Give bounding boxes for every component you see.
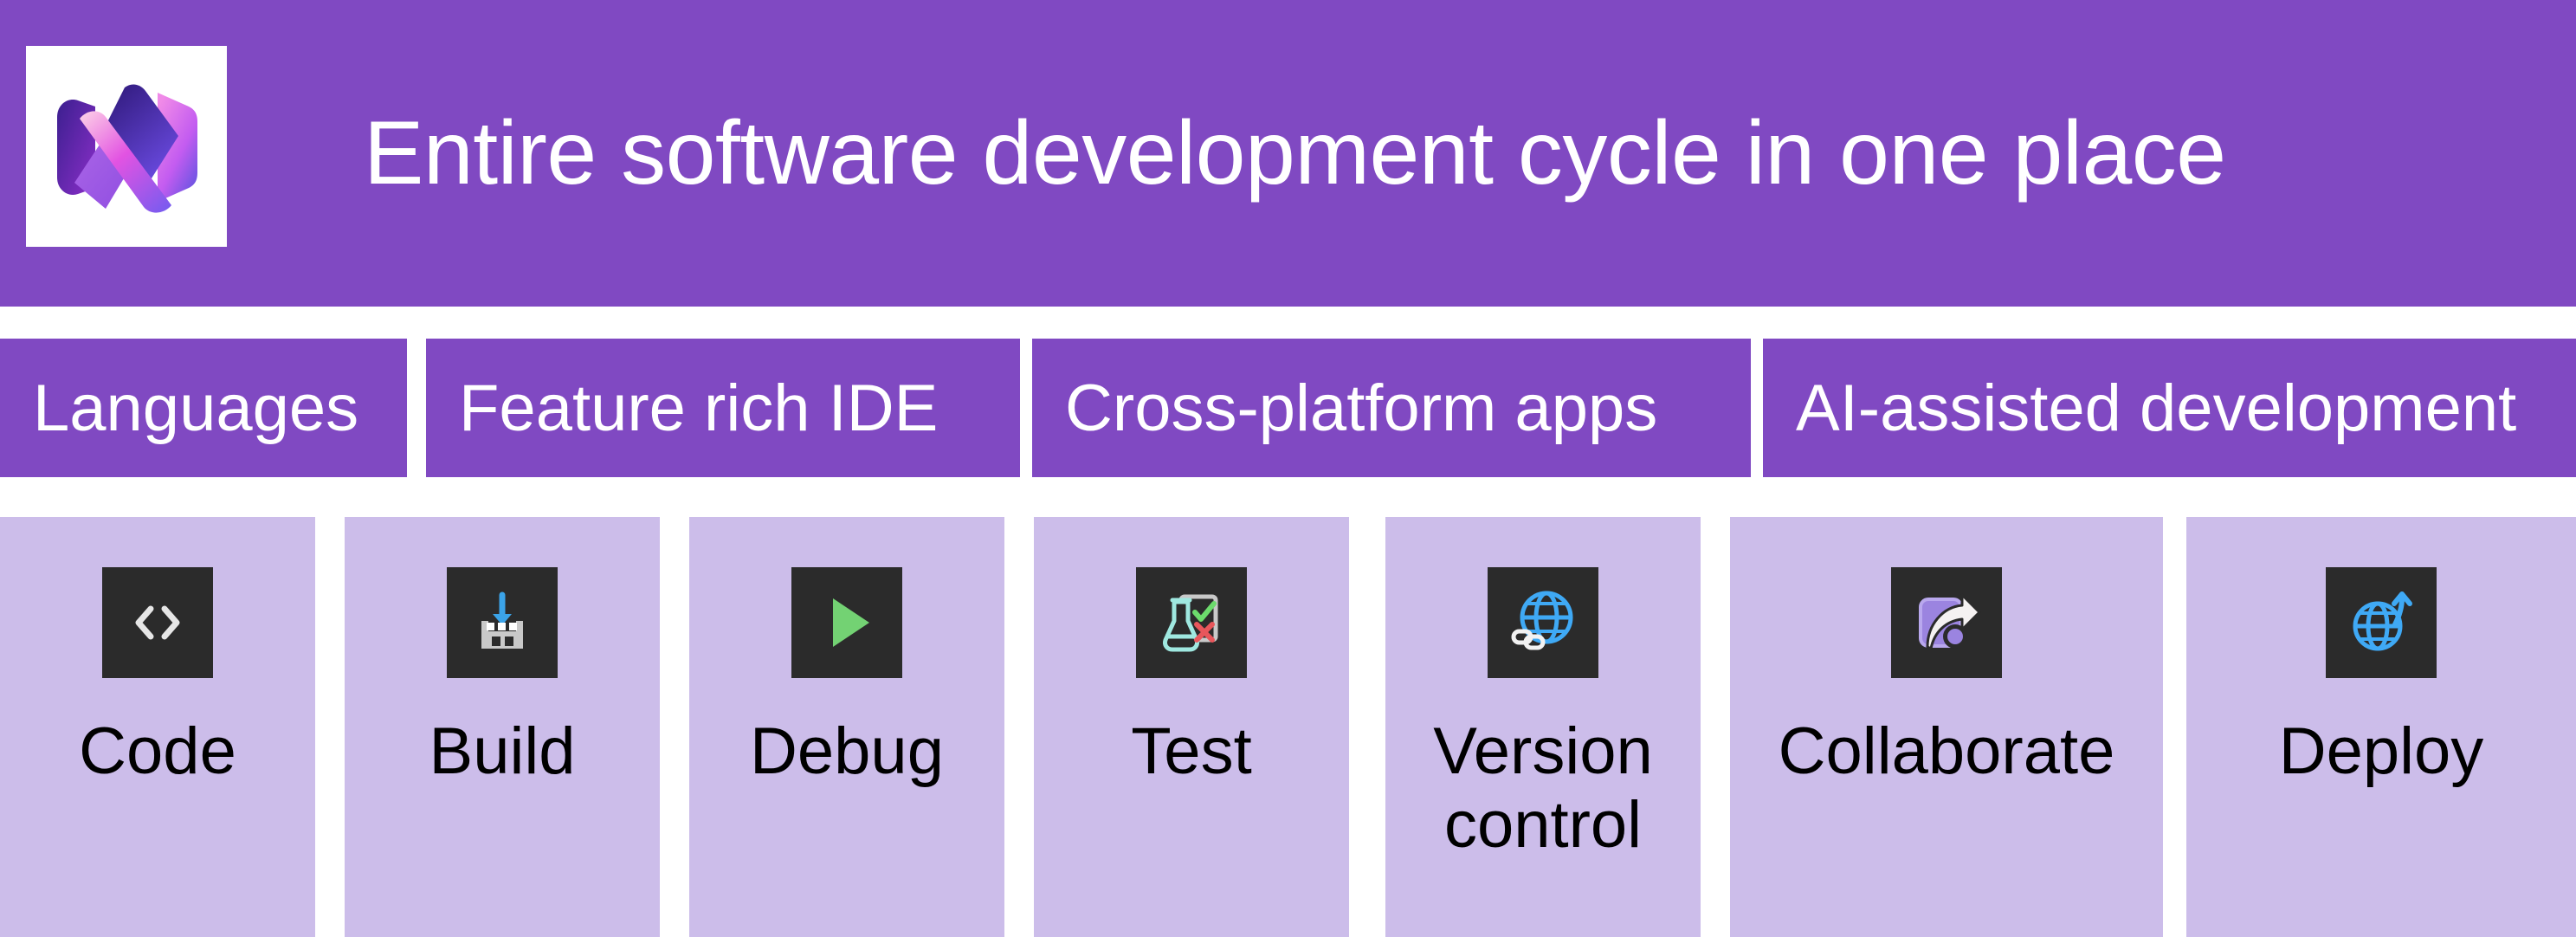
icon-box [102,567,213,678]
icon-box [1136,567,1247,678]
play-triangle-icon [810,586,883,659]
stage-tile-deploy[interactable]: Deploy [2186,517,2576,937]
header-band: Entire software development cycle in one… [0,0,2576,307]
stage-tile-label: Code [79,714,236,788]
globe-link-icon [1507,586,1579,659]
icon-box [447,567,558,678]
stage-tile-build[interactable]: Build [345,517,660,937]
icon-box [1488,567,1598,678]
visual-studio-logo-icon [42,61,211,231]
stage-tile-label: Test [1131,714,1251,788]
page-title: Entire software development cycle in one… [364,0,2226,307]
angle-brackets-icon [121,586,194,659]
category-chip-row: Languages Feature rich IDE Cross-platfor… [0,339,2576,477]
stage-tile-label: Deploy [2279,714,2484,788]
category-chip-cross-platform-apps[interactable]: Cross-platform apps [1032,339,1751,477]
globe-up-arrow-icon [2345,586,2418,659]
category-chip-ai-assisted-development[interactable]: AI-assisted development [1763,339,2576,477]
category-chip-label: AI-assisted development [1796,371,2516,446]
stage-tile-version-control[interactable]: Version control [1385,517,1701,937]
build-factory-download-icon [466,586,539,659]
icon-box [2326,567,2437,678]
stage-tile-label: Collaborate [1779,714,2115,788]
stage-tile-label: Debug [750,714,944,788]
icon-box [791,567,902,678]
stage-tile-label: Version control [1433,714,1653,862]
stage-tile-label: Build [429,714,576,788]
stage-tile-collaborate[interactable]: Collaborate [1730,517,2163,937]
test-flask-checkmark-icon [1155,586,1228,659]
icon-box [1891,567,2002,678]
category-chip-label: Languages [33,371,358,446]
stage-tile-code[interactable]: Code [0,517,315,937]
stage-tile-debug[interactable]: Debug [689,517,1004,937]
category-chip-feature-rich-ide[interactable]: Feature rich IDE [426,339,1020,477]
visual-studio-logo-tile [26,46,227,247]
share-arrow-icon [1910,586,1983,659]
category-chip-languages[interactable]: Languages [0,339,407,477]
stage-tile-test[interactable]: Test [1034,517,1349,937]
stage-tile-row: Code Build [0,517,2576,937]
category-chip-label: Feature rich IDE [459,371,938,446]
category-chip-label: Cross-platform apps [1065,371,1657,446]
